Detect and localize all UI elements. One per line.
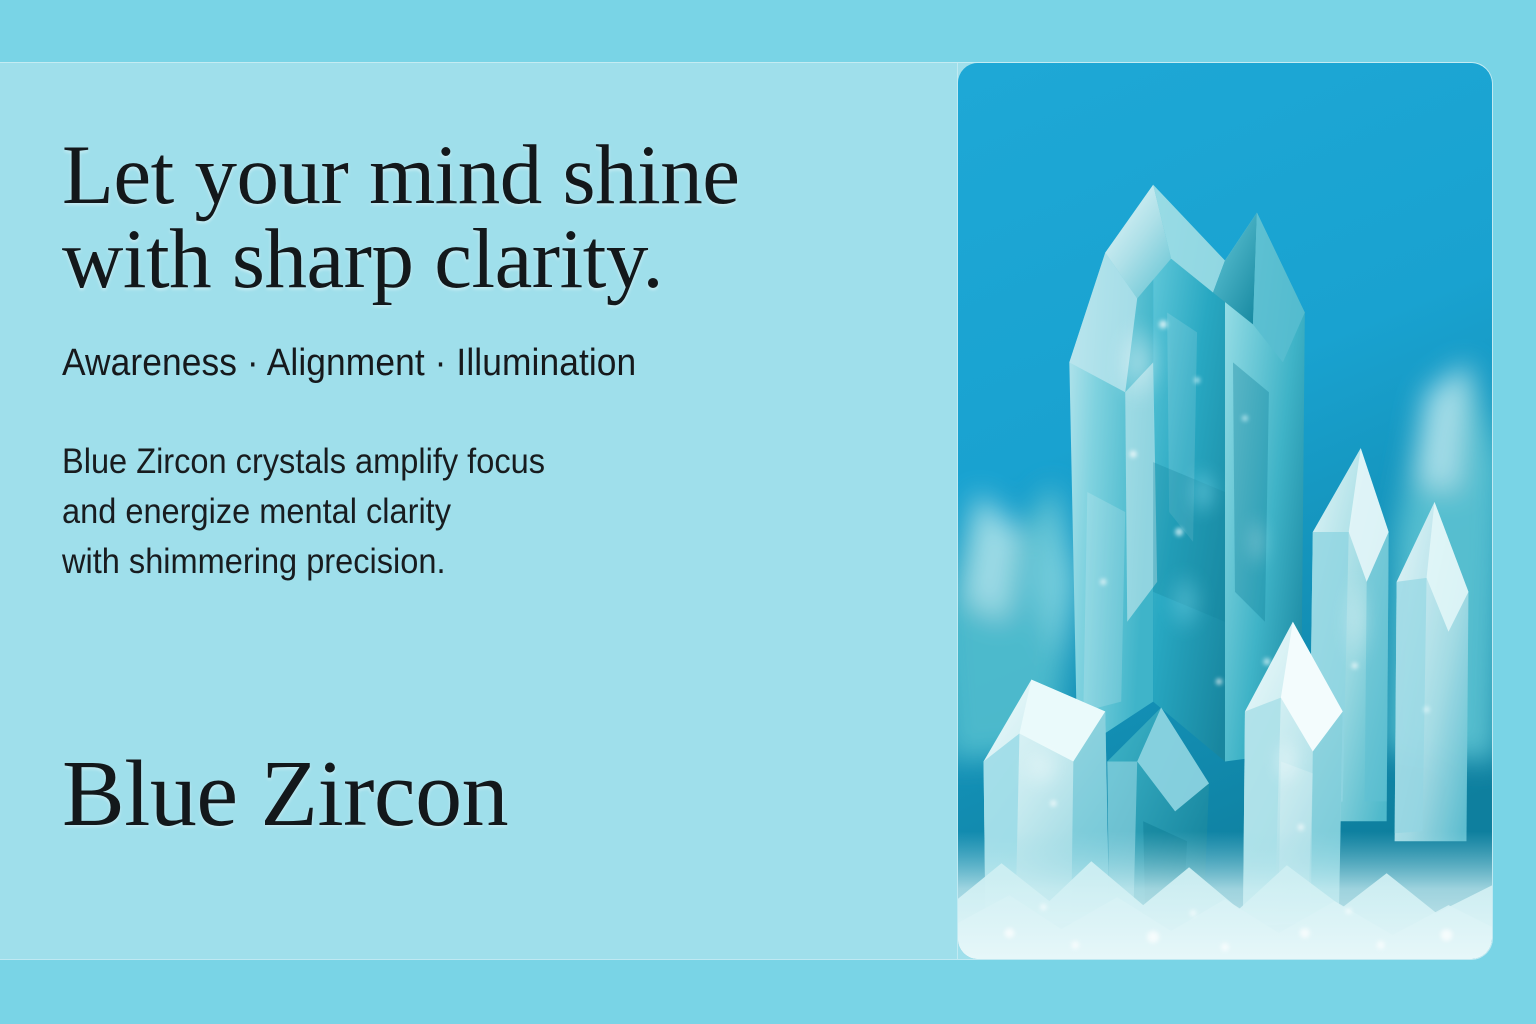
tagline: Awareness · Alignment · Illumination	[62, 343, 895, 385]
page-title: Let your mind shine with sharp clarity.	[62, 133, 892, 301]
text-content-panel: Let your mind shine with sharp clarity. …	[0, 63, 958, 959]
crystal-cluster-image	[958, 63, 1492, 959]
body-copy: Blue Zircon crystals amplify focus and e…	[62, 437, 895, 587]
brand-name: Blue Zircon	[62, 747, 508, 841]
promo-card: Let your mind shine with sharp clarity. …	[0, 62, 1493, 960]
body-line-1: Blue Zircon crystals amplify focus	[62, 437, 895, 487]
body-line-3: with shimmering precision.	[62, 537, 895, 587]
crystal-image-panel	[958, 63, 1492, 959]
headline-line-1: Let your mind shine	[62, 133, 892, 217]
body-line-2: and energize mental clarity	[62, 487, 895, 537]
headline-line-2: with sharp clarity.	[62, 217, 892, 301]
